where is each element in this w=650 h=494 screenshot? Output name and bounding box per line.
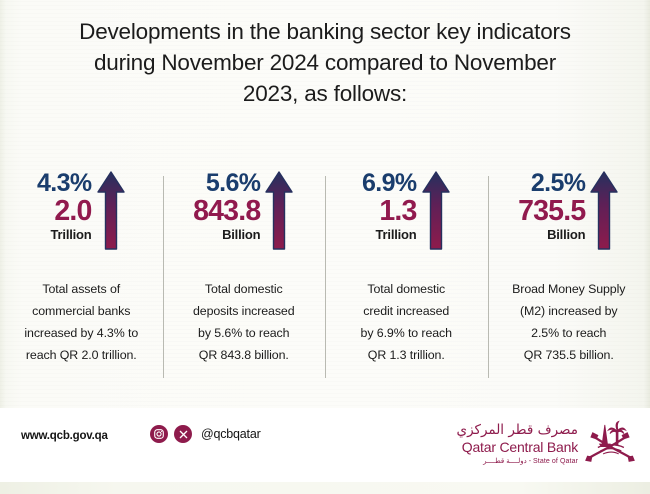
stat-description: Total domestic deposits increased by 5.6… [193, 278, 295, 366]
up-arrow-icon [96, 170, 126, 252]
logo-text: مصرف قطر المركزي Qatar Central Bank دولـ… [457, 422, 579, 467]
instagram-icon[interactable] [150, 425, 168, 443]
logo-english-name: Qatar Central Bank [457, 439, 579, 456]
stat-unit: Trillion [51, 227, 92, 243]
stat-numbers: 2.5% 735.5 Billion [518, 168, 585, 243]
stat-headline: 5.6% 843.8 Billion [193, 168, 294, 256]
stat-percent: 4.3% [37, 170, 92, 197]
title-line-3: 2023, as follows: [38, 78, 612, 109]
stat-description: Total assets of commercial banks increas… [24, 278, 138, 366]
footer-bar: www.qcb.gov.qa @qcbqatar مصرف قطر المركز… [0, 408, 650, 494]
x-twitter-icon[interactable] [174, 425, 192, 443]
stat-value: 1.3 [379, 196, 416, 226]
title-line-2: during November 2024 compared to Novembe… [38, 47, 612, 78]
stat-headline: 4.3% 2.0 Trillion [37, 168, 126, 256]
stat-numbers: 6.9% 1.3 Trillion [362, 168, 417, 243]
stat-numbers: 4.3% 2.0 Trillion [37, 168, 92, 243]
logo-subtitle: دولــــة قطــــر - State of Qatar [457, 456, 579, 467]
website-link[interactable]: www.qcb.gov.qa [21, 430, 108, 442]
up-arrow-icon [264, 170, 294, 252]
social-handle[interactable]: @qcbqatar [201, 427, 261, 441]
stat-card-broad-money-supply: 2.5% 735.5 Billion [488, 168, 650, 386]
stat-description: Total domestic credit increased by 6.9% … [361, 278, 452, 366]
stat-headline: 6.9% 1.3 Trillion [362, 168, 451, 256]
qcb-logo: مصرف قطر المركزي Qatar Central Bank دولـ… [457, 418, 637, 470]
stat-numbers: 5.6% 843.8 Billion [193, 168, 260, 243]
stat-percent: 5.6% [206, 170, 261, 197]
stat-card-domestic-deposits: 5.6% 843.8 Billion [163, 168, 326, 386]
stat-card-domestic-credit: 6.9% 1.3 Trillion [325, 168, 488, 386]
stat-percent: 6.9% [362, 170, 417, 197]
social-links: @qcbqatar [150, 425, 261, 443]
up-arrow-icon [421, 170, 451, 252]
stat-value: 2.0 [54, 196, 91, 226]
stat-value: 735.5 [518, 196, 585, 226]
stat-card-total-assets: 4.3% 2.0 Trillion [0, 168, 163, 386]
qatar-emblem-icon [584, 418, 636, 470]
statistics-row: 4.3% 2.0 Trillion [0, 168, 650, 386]
page-title: Developments in the banking sector key i… [38, 16, 612, 109]
stat-value: 843.8 [193, 196, 260, 226]
stat-unit: Billion [547, 227, 585, 243]
stat-unit: Trillion [376, 227, 417, 243]
stat-headline: 2.5% 735.5 Billion [518, 168, 619, 256]
logo-arabic-name: مصرف قطر المركزي [457, 422, 579, 439]
title-line-1: Developments in the banking sector key i… [38, 16, 612, 47]
stat-unit: Billion [222, 227, 260, 243]
infographic-canvas: Developments in the banking sector key i… [0, 0, 650, 494]
stat-description: Broad Money Supply (M2) increased by 2.5… [512, 278, 625, 366]
up-arrow-icon [589, 170, 619, 252]
stat-percent: 2.5% [531, 170, 586, 197]
